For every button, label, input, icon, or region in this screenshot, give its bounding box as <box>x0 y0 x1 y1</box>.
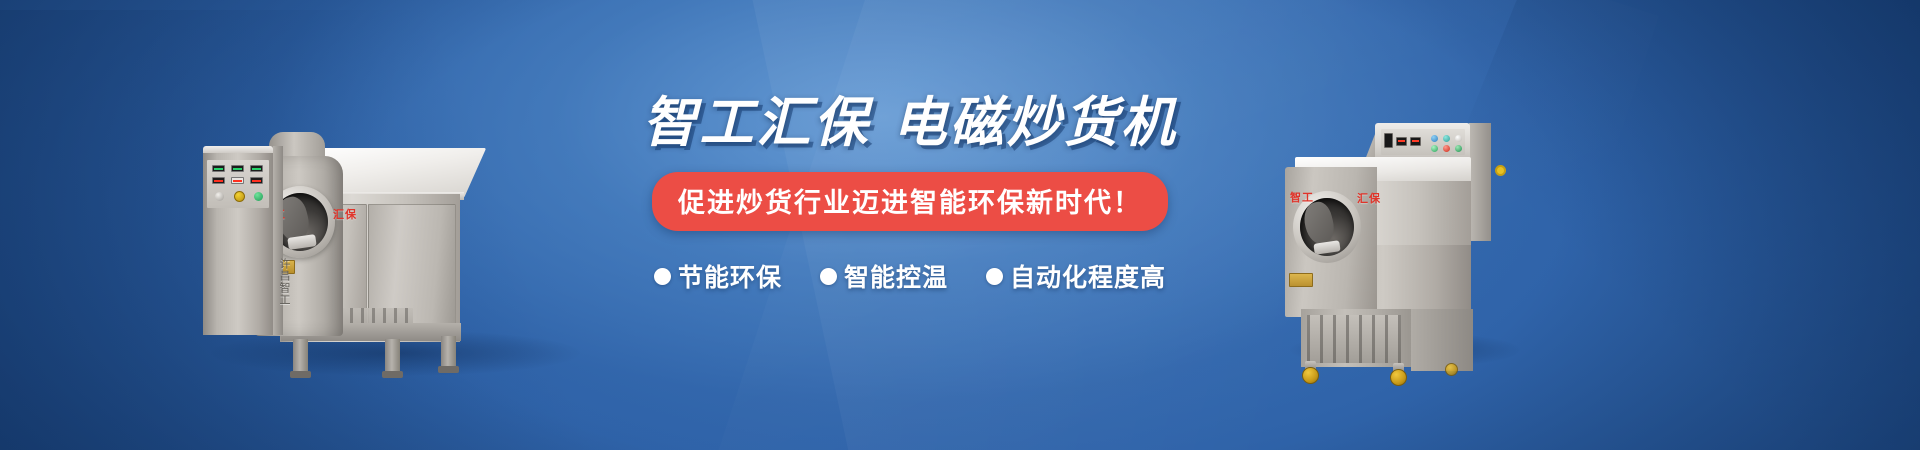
feature-label: 节能环保 <box>678 258 782 294</box>
banner-copy: 智工汇保电磁炒货机 促进炒货行业迈进智能环保新时代！ 节能环保 智能控温 自动化… <box>560 96 1260 294</box>
feature-item-smart-temperature: 智能控温 <box>820 258 948 294</box>
button-blue[interactable] <box>1431 135 1438 142</box>
dot-bullet-icon <box>986 268 1003 285</box>
machine-right-brand-label-2: 汇保 <box>1357 190 1381 206</box>
machine-left-cabinet-top <box>203 146 273 153</box>
machine-left-control-panel <box>207 160 269 208</box>
feature-list: 节能环保 智能控温 自动化程度高 <box>560 258 1260 294</box>
machine-right-base-side <box>1411 309 1473 371</box>
machine-left-cabinet-side-text: 许昌智工 <box>277 258 291 338</box>
machine-right-spec-plate <box>1289 273 1313 287</box>
machine-right-cabinet-side <box>1469 123 1491 241</box>
page-title: 智工汇保电磁炒货机 <box>560 96 1260 150</box>
machine-left-leg <box>441 336 456 370</box>
machine-left-foot <box>382 371 403 378</box>
machine-right: 智工 汇保 <box>1285 95 1515 350</box>
button-green-2[interactable] <box>1455 145 1462 152</box>
dot-bullet-icon <box>820 268 837 285</box>
machine-left-leg <box>385 339 400 373</box>
button-red[interactable] <box>1443 145 1450 152</box>
display-red-2 <box>231 177 244 184</box>
display-black-1 <box>1384 133 1393 148</box>
subtitle-badge: 促进炒货行业迈进智能环保新时代！ <box>652 172 1168 231</box>
caster-front <box>1302 367 1319 384</box>
display-red-3 <box>250 177 263 184</box>
headline-part-2: 电磁炒货机 <box>893 93 1178 153</box>
feature-item-energy-saving: 节能环保 <box>654 258 782 294</box>
display-green-1 <box>212 165 225 172</box>
display-red-2 <box>1410 137 1421 146</box>
indicator-green[interactable] <box>254 192 263 201</box>
machine-left: 智工 汇保 许昌智工 <box>185 108 565 348</box>
machine-left-foot <box>290 371 311 378</box>
machine-left-foot <box>438 366 459 373</box>
machine-left-leg <box>293 339 308 373</box>
knob-switch[interactable] <box>215 192 224 201</box>
dot-bullet-icon <box>654 268 671 285</box>
button-teal[interactable] <box>1443 135 1450 142</box>
caster-rear <box>1445 363 1458 376</box>
machine-right-vent-grille <box>1307 315 1401 363</box>
feature-item-automation: 自动化程度高 <box>986 258 1166 294</box>
promo-banner: 智工 汇保 许昌智工 <box>0 0 1920 450</box>
machine-right-porthole-opening <box>1300 198 1354 256</box>
display-green-2 <box>231 165 244 172</box>
display-green-3 <box>250 165 263 172</box>
feature-label: 自动化程度高 <box>1010 258 1166 294</box>
machine-left-brand-label-2: 汇保 <box>333 206 357 222</box>
machine-right-control-panel <box>1381 129 1465 155</box>
headline-part-1: 智工汇保 <box>643 93 871 153</box>
machine-right-brand-label-1: 智工 <box>1290 189 1314 205</box>
machine-left-door-panel <box>368 204 456 324</box>
machine-left-drum-pan <box>287 234 316 250</box>
emergency-stop-yellow[interactable] <box>234 191 245 202</box>
display-red-1 <box>1396 137 1407 146</box>
button-white[interactable] <box>1455 135 1462 142</box>
button-green[interactable] <box>1431 145 1438 152</box>
machine-right-drum-pan <box>1313 240 1340 255</box>
display-red-1 <box>212 177 225 184</box>
feature-label: 智能控温 <box>844 258 948 294</box>
caster-rear <box>1390 369 1407 386</box>
emergency-stop-yellow[interactable] <box>1495 165 1506 176</box>
badge-row: 促进炒货行业迈进智能环保新时代！ <box>560 172 1260 231</box>
